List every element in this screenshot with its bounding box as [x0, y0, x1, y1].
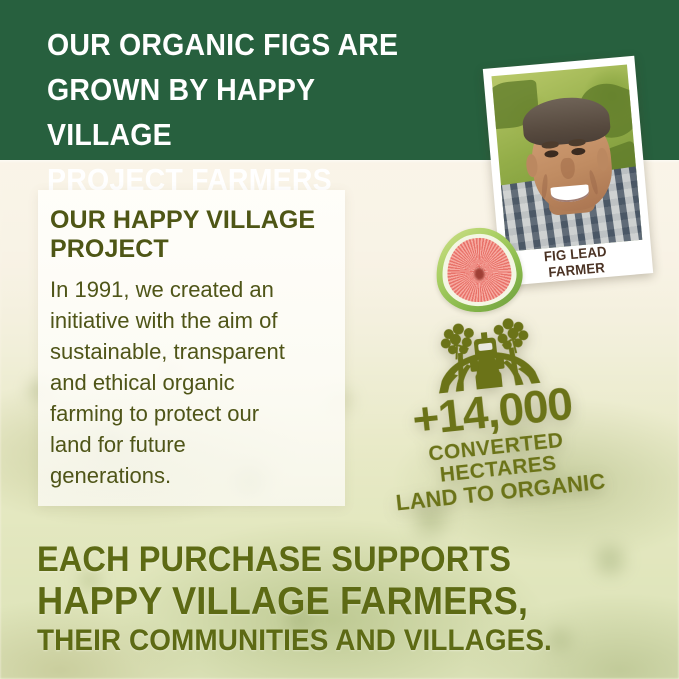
hectares-stamp: +14,000 CONVERTED HECTARES LAND TO ORGAN…	[354, 291, 631, 529]
header-title: OUR ORGANIC FIGS ARE GROWN BY HAPPY VILL…	[47, 22, 443, 202]
bottom-headline-line2: HAPPY VILLAGE FARMERS,	[37, 580, 528, 624]
promo-infographic: OUR ORGANIC FIGS ARE GROWN BY HAPPY VILL…	[0, 0, 679, 679]
story-card-title: OUR HAPPY VILLAGE PROJECT	[50, 206, 350, 264]
bottom-headline-line3: THEIR COMMUNITIES AND VILLAGES.	[37, 624, 552, 658]
story-card-body: In 1991, we created an initiative with t…	[50, 274, 350, 491]
bottom-headline-line1: EACH PURCHASE SUPPORTS	[37, 540, 511, 580]
